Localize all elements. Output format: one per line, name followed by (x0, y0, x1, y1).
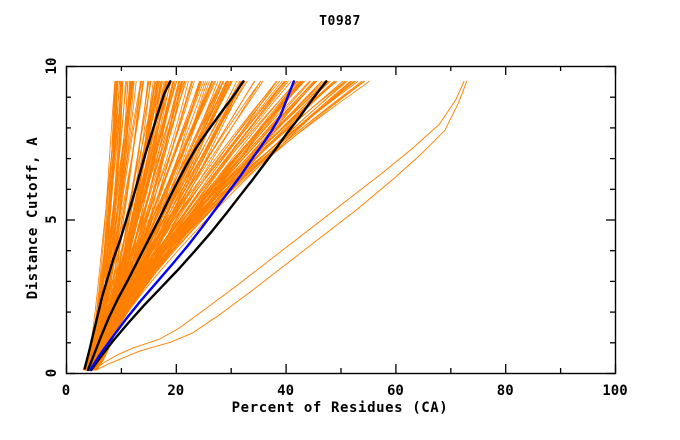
plot-canvas: 0204060801000510 (0, 0, 680, 440)
x-tick-label: 80 (497, 383, 514, 399)
y-tick-label: 5 (44, 215, 60, 223)
axes-layer (66, 66, 616, 374)
x-tick-label: 100 (602, 383, 627, 399)
x-tick-label: 60 (387, 383, 404, 399)
curves-layer (83, 81, 467, 370)
x-tick-label: 20 (167, 383, 184, 399)
y-tick-label: 10 (44, 58, 60, 75)
chart-figure: T0987 Distance Cutoff, A Percent of Resi… (0, 0, 680, 440)
x-tick-label: 40 (277, 383, 294, 399)
y-tick-label: 0 (44, 369, 60, 377)
x-tick-label: 0 (62, 383, 70, 399)
